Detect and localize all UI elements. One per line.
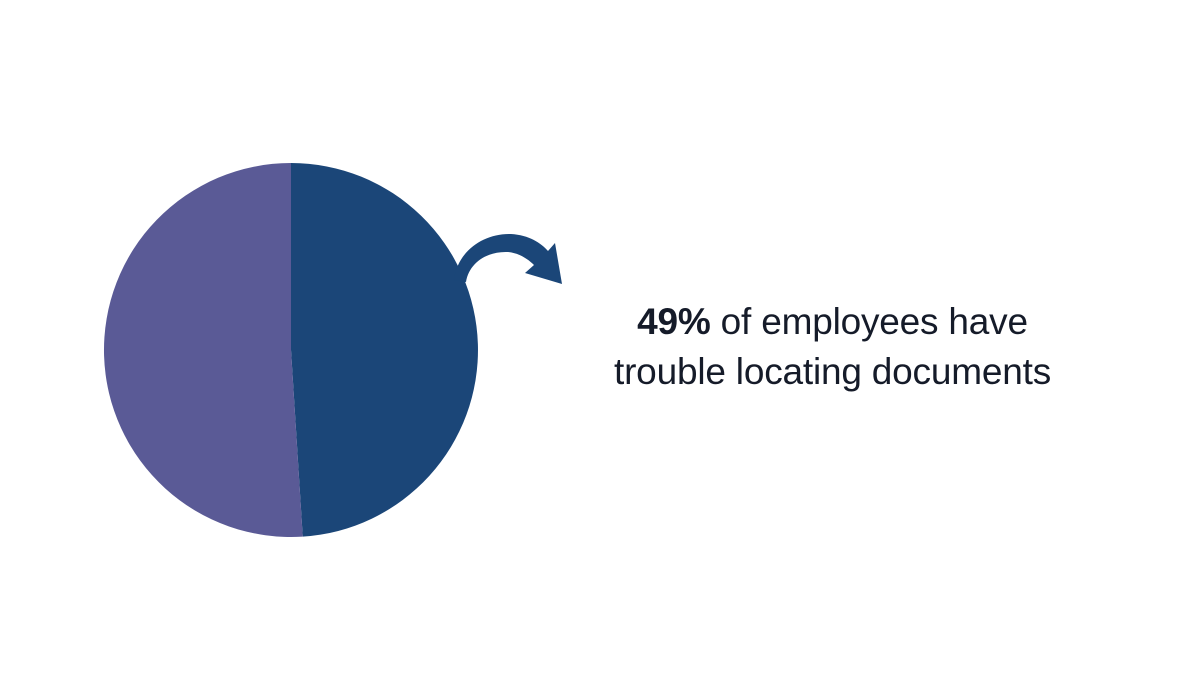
pie-chart-svg xyxy=(103,162,479,538)
caption-line-1-rest: of employees have xyxy=(711,301,1028,342)
pie-slice-remainder[interactable] xyxy=(104,163,303,537)
curved-arrow-shape xyxy=(454,234,562,284)
caption-line-1: 49% of employees have xyxy=(540,297,1125,347)
stat-value: 49% xyxy=(637,301,710,342)
curved-arrow-icon xyxy=(445,218,575,298)
annotation-arrow xyxy=(445,218,575,298)
pie-chart xyxy=(103,162,479,538)
caption-text: 49% of employees have trouble locating d… xyxy=(540,297,1125,397)
infographic-canvas: 49% of employees have trouble locating d… xyxy=(0,0,1200,700)
caption-line-2: trouble locating documents xyxy=(540,347,1125,397)
